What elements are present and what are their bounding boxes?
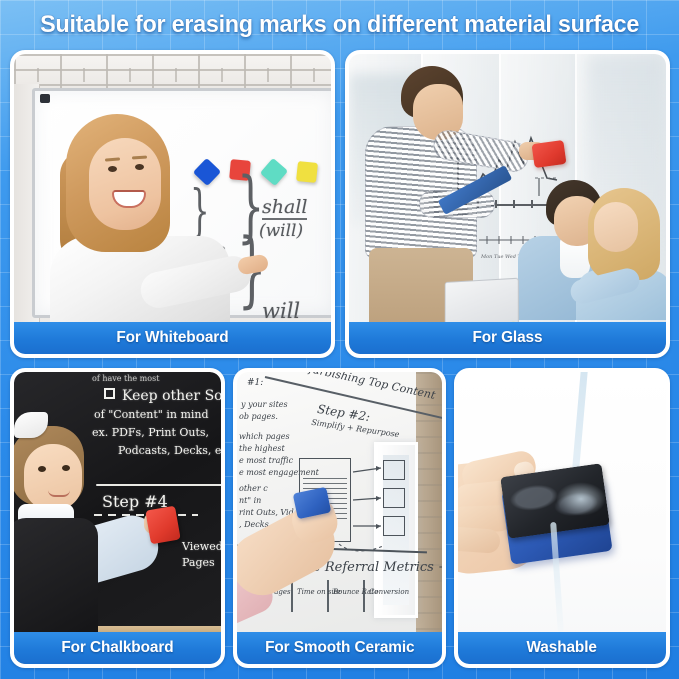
panel-glass[interactable]: Sales Page Script Mon Tue Wed Thur bbox=[345, 50, 670, 358]
caption-glass: For Glass bbox=[349, 322, 666, 354]
person-schoolgirl bbox=[14, 412, 156, 640]
board-text-shall: shall bbox=[262, 196, 307, 220]
brick-row-detail bbox=[14, 68, 331, 82]
chalk-text-pages: Pages bbox=[182, 556, 215, 569]
table-divider bbox=[291, 580, 293, 612]
mouth bbox=[48, 490, 70, 497]
eraser-red bbox=[531, 140, 566, 168]
caption-label: For Chalkboard bbox=[61, 639, 173, 657]
eye-right bbox=[135, 164, 144, 170]
page-title: Suitable for erasing marks on different … bbox=[40, 11, 639, 39]
table-cell: Conversion bbox=[369, 588, 409, 596]
eye-left bbox=[38, 466, 46, 472]
chalk-text-line1: Keep other So bbox=[122, 388, 221, 404]
board-text-will-paren: (will) bbox=[259, 221, 303, 241]
table-divider bbox=[327, 580, 329, 612]
face bbox=[24, 444, 82, 510]
photo-smooth-ceramic: Refurbishing Top Content #1: y your site… bbox=[237, 372, 442, 664]
magnet-yellow bbox=[296, 161, 318, 183]
panel-smooth-ceramic[interactable]: Refurbishing Top Content #1: y your site… bbox=[233, 368, 446, 668]
caption-chalkboard: For Chalkboard bbox=[14, 632, 221, 664]
eye-left bbox=[108, 166, 117, 172]
marker-note8: nt" in bbox=[239, 496, 261, 505]
caption-label: For Whiteboard bbox=[116, 329, 228, 347]
eye-right bbox=[62, 465, 70, 471]
chalk-text-viewed: Viewed bbox=[182, 540, 221, 553]
photo-washable bbox=[458, 372, 666, 664]
eraser-red bbox=[145, 506, 180, 545]
marker-note1: y your sites bbox=[241, 400, 288, 409]
photo-whiteboard: } } } } } } shall (will) We Me You will bbox=[14, 54, 331, 354]
pinafore-dress bbox=[14, 518, 98, 640]
person-seated-woman bbox=[576, 188, 666, 320]
water-splash bbox=[556, 482, 606, 516]
photo-glass: Sales Page Script Mon Tue Wed Thur bbox=[349, 54, 666, 354]
caption-washable: Washable bbox=[458, 632, 666, 664]
panel-washable[interactable]: Washable bbox=[454, 368, 670, 668]
marker-note7: other c bbox=[239, 484, 268, 493]
marker-step1: #1: bbox=[247, 378, 263, 388]
photo-chalkboard: of have the most Keep other So of "Conte… bbox=[14, 372, 221, 664]
panel-whiteboard[interactable]: } } } } } } shall (will) We Me You will bbox=[10, 50, 335, 358]
marker-note5: e most traffic bbox=[239, 456, 293, 465]
marker-note4: the highest bbox=[239, 444, 285, 453]
face bbox=[89, 138, 161, 230]
marker-note2: ob pages. bbox=[239, 412, 278, 421]
caption-label: For Smooth Ceramic bbox=[265, 639, 414, 657]
face bbox=[594, 202, 638, 252]
table-divider bbox=[363, 580, 365, 612]
board-clip-icon bbox=[40, 94, 50, 103]
marker-note3: which pages bbox=[239, 432, 290, 441]
caption-smooth-ceramic: For Smooth Ceramic bbox=[237, 632, 442, 664]
person-woman bbox=[42, 114, 232, 354]
chalk-text-line0: of have the most bbox=[92, 374, 159, 383]
finger bbox=[458, 526, 501, 554]
caption-label: For Glass bbox=[473, 329, 543, 347]
panel-chalkboard[interactable]: of have the most Keep other So of "Conte… bbox=[10, 368, 225, 668]
checkbox-icon bbox=[104, 388, 115, 399]
header-banner: Suitable for erasing marks on different … bbox=[0, 0, 679, 50]
caption-label: Washable bbox=[527, 639, 597, 657]
caption-whiteboard: For Whiteboard bbox=[14, 322, 331, 354]
infographic-page: Suitable for erasing marks on different … bbox=[0, 0, 679, 679]
